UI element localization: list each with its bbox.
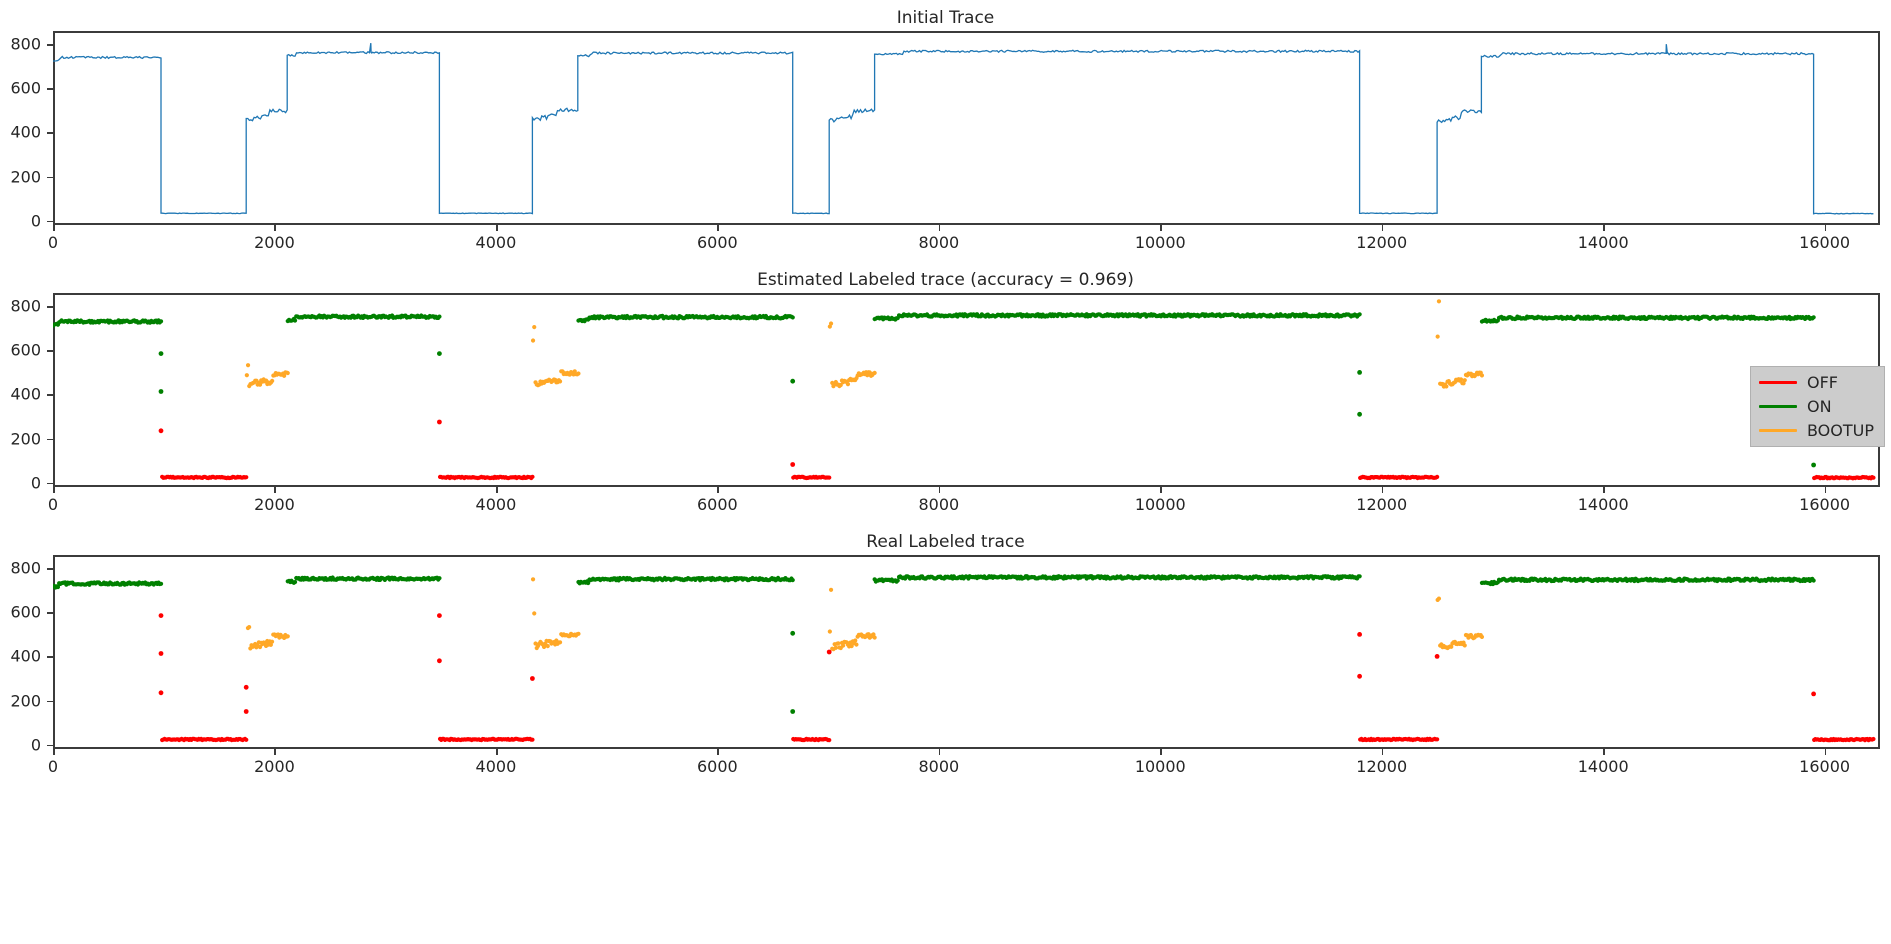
x-axis-tick — [1825, 487, 1827, 493]
plot-title-real-labeled-trace: Real Labeled trace — [0, 532, 1891, 552]
subplot-estimated-labeled-trace: Estimated Labeled trace (accuracy = 0.96… — [0, 262, 1891, 524]
x-axis-tick-label: 16000 — [1799, 495, 1850, 514]
x-axis-tick-label: 4000 — [476, 233, 517, 252]
x-axis-tick — [53, 225, 55, 231]
y-axis-tick — [47, 439, 53, 441]
legend-label: OFF — [1807, 373, 1838, 392]
legend-swatch-bootup-icon — [1759, 429, 1797, 432]
y-axis-tick-label: 0 — [3, 735, 41, 754]
labeled-scatter-plot-real — [53, 555, 1880, 749]
plot-title-estimated-labeled-trace: Estimated Labeled trace (accuracy = 0.96… — [0, 270, 1891, 290]
x-axis-tick — [939, 749, 941, 755]
x-axis-tick — [1825, 225, 1827, 231]
x-axis-tick — [496, 749, 498, 755]
y-axis-tick-label: 200 — [3, 429, 41, 448]
x-axis-tick-label: 10000 — [1135, 233, 1186, 252]
x-axis-tick — [1382, 225, 1384, 231]
x-axis-tick-label: 4000 — [476, 757, 517, 776]
y-axis-tick-label: 800 — [3, 35, 41, 54]
x-axis-tick-label: 12000 — [1356, 495, 1407, 514]
x-axis-tick — [1603, 225, 1605, 231]
y-axis-tick-label: 0 — [3, 211, 41, 230]
x-axis-tick-label: 4000 — [476, 495, 517, 514]
y-axis-tick — [47, 568, 53, 570]
y-axis-tick-label: 600 — [3, 341, 41, 360]
x-axis-tick — [274, 487, 276, 493]
x-axis-tick — [1603, 487, 1605, 493]
x-axis-tick — [1825, 749, 1827, 755]
y-axis-tick-label: 0 — [3, 473, 41, 492]
x-axis-tick-label: 0 — [48, 233, 58, 252]
y-axis-tick-label: 400 — [3, 647, 41, 666]
trace-line-plot — [53, 31, 1880, 225]
x-axis-tick — [53, 749, 55, 755]
subplot-initial-trace: Initial Trace 02000400060008000100001200… — [0, 0, 1891, 262]
y-axis-tick — [47, 483, 53, 485]
subplot-real-labeled-trace: Real Labeled trace 020004000600080001000… — [0, 524, 1891, 786]
x-axis-tick — [1382, 749, 1384, 755]
legend-swatch-off-icon — [1759, 381, 1797, 384]
x-axis-tick — [496, 487, 498, 493]
x-axis-tick-label: 8000 — [918, 495, 959, 514]
y-axis-tick-label: 600 — [3, 603, 41, 622]
x-axis-tick — [1382, 487, 1384, 493]
legend-label: BOOTUP — [1807, 421, 1874, 440]
y-axis-tick — [47, 177, 53, 179]
legend-swatch-on-icon — [1759, 405, 1797, 408]
x-axis-tick — [939, 487, 941, 493]
x-axis-tick-label: 16000 — [1799, 233, 1850, 252]
x-axis-tick — [274, 749, 276, 755]
labeled-scatter-plot-estimated — [53, 293, 1880, 487]
axes-estimated-labeled-trace: 0200040006000800010000120001400016000020… — [53, 293, 1880, 487]
y-axis-tick-label: 800 — [3, 297, 41, 316]
x-axis-tick-label: 6000 — [697, 495, 738, 514]
x-axis-tick — [717, 749, 719, 755]
x-axis-tick-label: 8000 — [918, 757, 959, 776]
x-axis-tick-label: 16000 — [1799, 757, 1850, 776]
y-axis-tick — [47, 745, 53, 747]
y-axis-tick — [47, 88, 53, 90]
x-axis-tick-label: 2000 — [254, 757, 295, 776]
x-axis-tick-label: 0 — [48, 495, 58, 514]
y-axis-tick — [47, 701, 53, 703]
axes-initial-trace: 0200040006000800010000120001400016000020… — [53, 31, 1880, 225]
y-axis-tick-label: 400 — [3, 385, 41, 404]
y-axis-tick — [47, 656, 53, 658]
x-axis-tick-label: 0 — [48, 757, 58, 776]
x-axis-tick — [1160, 487, 1162, 493]
x-axis-tick-label: 10000 — [1135, 757, 1186, 776]
x-axis-tick — [717, 225, 719, 231]
y-axis-tick — [47, 221, 53, 223]
x-axis-tick — [717, 487, 719, 493]
y-axis-tick — [47, 306, 53, 308]
x-axis-tick — [939, 225, 941, 231]
x-axis-tick — [53, 487, 55, 493]
x-axis-tick-label: 14000 — [1578, 233, 1629, 252]
x-axis-tick-label: 8000 — [918, 233, 959, 252]
y-axis-tick — [47, 612, 53, 614]
y-axis-tick — [47, 394, 53, 396]
y-axis-tick-label: 200 — [3, 167, 41, 186]
legend-item-on[interactable]: ON — [1759, 397, 1874, 416]
x-axis-tick-label: 2000 — [254, 233, 295, 252]
x-axis-tick-label: 14000 — [1578, 757, 1629, 776]
legend-item-off[interactable]: OFF — [1759, 373, 1874, 392]
y-axis-tick-label: 200 — [3, 691, 41, 710]
x-axis-tick-label: 14000 — [1578, 495, 1629, 514]
y-axis-tick-label: 800 — [3, 559, 41, 578]
axes-real-labeled-trace: 0200040006000800010000120001400016000020… — [53, 555, 1880, 749]
y-axis-tick-label: 400 — [3, 123, 41, 142]
legend-item-bootup[interactable]: BOOTUP — [1759, 421, 1874, 440]
x-axis-tick-label: 12000 — [1356, 757, 1407, 776]
x-axis-tick-label: 10000 — [1135, 495, 1186, 514]
x-axis-tick-label: 2000 — [254, 495, 295, 514]
x-axis-tick-label: 6000 — [697, 757, 738, 776]
x-axis-tick — [1160, 225, 1162, 231]
y-axis-tick-label: 600 — [3, 79, 41, 98]
x-axis-tick — [1160, 749, 1162, 755]
plot-title-initial-trace: Initial Trace — [0, 8, 1891, 28]
x-axis-tick — [496, 225, 498, 231]
x-axis-tick-label: 12000 — [1356, 233, 1407, 252]
x-axis-tick — [274, 225, 276, 231]
legend: OFFONBOOTUP — [1750, 366, 1885, 447]
x-axis-tick — [1603, 749, 1605, 755]
x-axis-tick-label: 6000 — [697, 233, 738, 252]
y-axis-tick — [47, 350, 53, 352]
legend-label: ON — [1807, 397, 1832, 416]
y-axis-tick — [47, 132, 53, 134]
y-axis-tick — [47, 44, 53, 46]
matplotlib-figure: Initial Trace 02000400060008000100001200… — [0, 0, 1891, 944]
